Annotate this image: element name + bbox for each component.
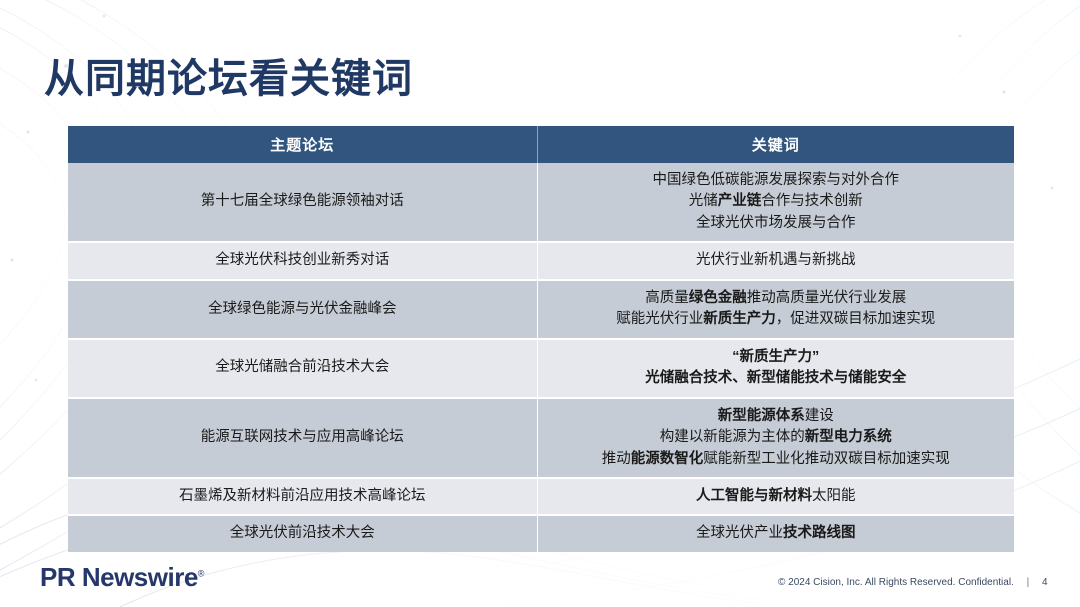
keyword-line: “新质生产力”: [548, 347, 1005, 368]
table-row: 全球光伏前沿技术大会全球光伏产业技术路线图: [68, 515, 1014, 551]
column-header-keyword: 关键词: [537, 126, 1014, 163]
keyword-text: 推动高质量光伏行业发展: [747, 290, 907, 306]
cell-forum: 全球光储融合前沿技术大会: [68, 339, 537, 398]
table-row: 全球光伏科技创业新秀对话光伏行业新机遇与新挑战: [68, 242, 1014, 279]
cell-keyword: 光伏行业新机遇与新挑战: [537, 242, 1014, 279]
cell-forum: 石墨烯及新材料前沿应用技术高峰论坛: [68, 478, 537, 515]
keyword-text: 构建以新能源为主体的: [660, 429, 805, 445]
keyword-highlight: 光储融合技术、新型储能技术与储能安全: [645, 370, 906, 386]
keyword-line: 推动能源数智化赋能新型工业化推动双碳目标加速实现: [548, 449, 1005, 470]
keyword-line: 中国绿色低碳能源发展探索与对外合作: [548, 170, 1005, 191]
keyword-text: 推动: [602, 451, 631, 467]
keyword-highlight: 新型能源体系: [718, 408, 805, 424]
cell-keyword: 新型能源体系建设构建以新能源为主体的新型电力系统推动能源数智化赋能新型工业化推动…: [537, 398, 1014, 478]
keyword-text: 太阳能: [812, 488, 856, 504]
copyright-text: © 2024 Cision, Inc. All Rights Reserved.…: [778, 577, 1014, 588]
cell-forum: 全球绿色能源与光伏金融峰会: [68, 280, 537, 339]
table-header-row: 主题论坛 关键词: [68, 126, 1014, 163]
cell-keyword: 中国绿色低碳能源发展探索与对外合作光储产业链合作与技术创新全球光伏市场发展与合作: [537, 163, 1014, 242]
cell-forum: 第十七届全球绿色能源领袖对话: [68, 163, 537, 242]
logo-trademark-mark: ®: [198, 568, 204, 578]
cell-forum: 全球光伏前沿技术大会: [68, 515, 537, 551]
table-row: 全球光储融合前沿技术大会“新质生产力”光储融合技术、新型储能技术与储能安全: [68, 339, 1014, 398]
cell-forum: 能源互联网技术与应用高峰论坛: [68, 398, 537, 478]
logo-text: PR Newswire: [40, 562, 198, 592]
keyword-line: 光伏行业新机遇与新挑战: [548, 250, 1005, 271]
table-header: 主题论坛 关键词: [68, 126, 1014, 163]
keyword-text: 全球光伏市场发展与合作: [696, 215, 856, 231]
keyword-highlight: “新质生产力”: [732, 349, 819, 365]
cell-forum: 全球光伏科技创业新秀对话: [68, 242, 537, 279]
keyword-text: 合作与技术创新: [761, 193, 863, 209]
table-row: 第十七届全球绿色能源领袖对话中国绿色低碳能源发展探索与对外合作光储产业链合作与技…: [68, 163, 1014, 242]
keyword-highlight: 技术路线图: [783, 525, 856, 541]
keyword-line: 赋能光伏行业新质生产力，促进双碳目标加速实现: [548, 309, 1005, 330]
keyword-text: 光伏行业新机遇与新挑战: [696, 252, 856, 268]
footer-copyright: © 2024 Cision, Inc. All Rights Reserved.…: [778, 577, 1052, 588]
table-row: 全球绿色能源与光伏金融峰会高质量绿色金融推动高质量光伏行业发展赋能光伏行业新质生…: [68, 280, 1014, 339]
cell-keyword: 高质量绿色金融推动高质量光伏行业发展赋能光伏行业新质生产力，促进双碳目标加速实现: [537, 280, 1014, 339]
keyword-line: 光储融合技术、新型储能技术与储能安全: [548, 368, 1005, 389]
keyword-line: 高质量绿色金融推动高质量光伏行业发展: [548, 288, 1005, 309]
cell-keyword: “新质生产力”光储融合技术、新型储能技术与储能安全: [537, 339, 1014, 398]
keyword-text: 高质量: [645, 290, 689, 306]
keyword-text: 建设: [805, 408, 834, 424]
footer-separator: |: [1017, 577, 1040, 588]
page-number: 4: [1042, 577, 1052, 588]
keyword-text: 赋能光伏行业: [616, 311, 703, 327]
keyword-line: 人工智能与新材料太阳能: [548, 486, 1005, 507]
keyword-line: 光储产业链合作与技术创新: [548, 191, 1005, 212]
keyword-highlight: 能源数智化: [631, 451, 704, 467]
keyword-line: 构建以新能源为主体的新型电力系统: [548, 427, 1005, 448]
keyword-highlight: 新型电力系统: [805, 429, 892, 445]
table-row: 石墨烯及新材料前沿应用技术高峰论坛人工智能与新材料太阳能: [68, 478, 1014, 515]
cell-keyword: 全球光伏产业技术路线图: [537, 515, 1014, 551]
keyword-line: 全球光伏产业技术路线图: [548, 523, 1005, 544]
keyword-line: 全球光伏市场发展与合作: [548, 213, 1005, 234]
pr-newswire-logo: PR Newswire®: [40, 562, 204, 593]
keyword-highlight: 新质生产力: [703, 311, 776, 327]
forum-keyword-table: 主题论坛 关键词 第十七届全球绿色能源领袖对话中国绿色低碳能源发展探索与对外合作…: [68, 126, 1014, 552]
keyword-highlight: 人工智能与新材料: [696, 488, 812, 504]
keyword-text: 中国绿色低碳能源发展探索与对外合作: [653, 172, 900, 188]
keyword-line: 新型能源体系建设: [548, 406, 1005, 427]
keyword-text: ，促进双碳目标加速实现: [776, 311, 936, 327]
keyword-text: 全球光伏产业: [696, 525, 783, 541]
keyword-text: 光储: [689, 193, 718, 209]
table-body: 第十七届全球绿色能源领袖对话中国绿色低碳能源发展探索与对外合作光储产业链合作与技…: [68, 163, 1014, 552]
keyword-highlight: 绿色金融: [689, 290, 747, 306]
slide-canvas: 从同期论坛看关键词 主题论坛 关键词 第十七届全球绿色能源领袖对话中国绿色低碳能…: [0, 0, 1080, 607]
cell-keyword: 人工智能与新材料太阳能: [537, 478, 1014, 515]
keyword-highlight: 产业链: [718, 193, 762, 209]
column-header-forum: 主题论坛: [68, 126, 537, 163]
keyword-text: 赋能新型工业化推动双碳目标加速实现: [703, 451, 950, 467]
table-row: 能源互联网技术与应用高峰论坛新型能源体系建设构建以新能源为主体的新型电力系统推动…: [68, 398, 1014, 478]
page-title: 从同期论坛看关键词: [44, 57, 413, 101]
